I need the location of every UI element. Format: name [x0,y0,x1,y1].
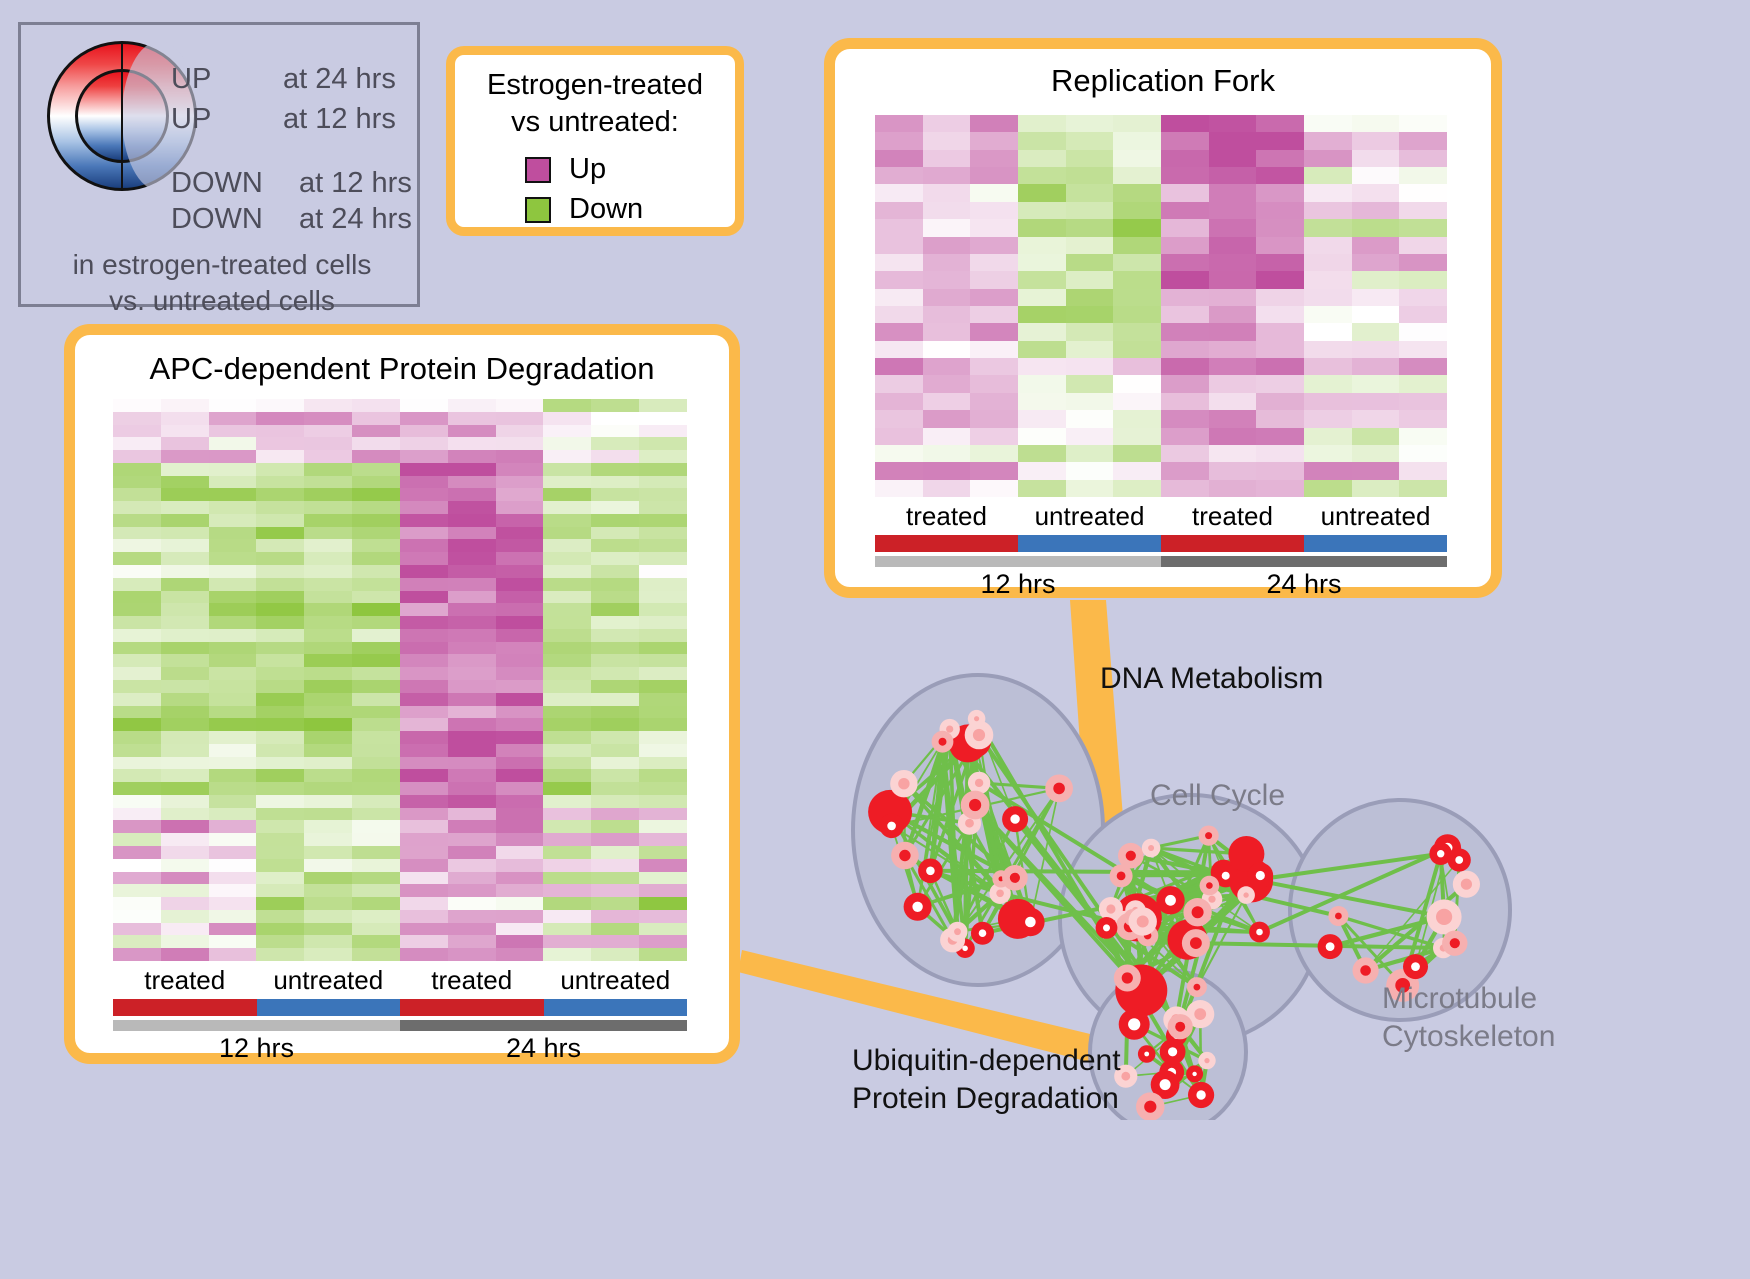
ring-midline [121,41,123,191]
axis-group-bar-3 [1304,535,1447,552]
network-node-core [979,929,987,937]
network-node-core [969,799,981,811]
network-node-core [1165,895,1176,906]
network-node-core [1121,1072,1130,1081]
network-node-core [912,902,922,912]
axis-group-bar-1 [1018,535,1161,552]
network-node-core [1144,1052,1149,1057]
network-node-core [887,822,896,831]
legend-title-line-1: Estrogen-treated [455,67,735,104]
axis-group-labels: treateduntreatedtreateduntreated [875,501,1447,532]
network-node-core [1411,962,1420,971]
network-node-core [965,819,974,828]
legend-title-line-2: vs untreated: [455,104,735,141]
network-node-core [1126,851,1136,861]
network-node-core [1122,972,1133,983]
colour-wheel-legend: UP at 24 hrs UP at 12 hrs DOWN at 12 hrs… [18,22,420,307]
ubiquitin-line-1: Ubiquitin-dependent [852,1042,1121,1080]
axis-apc: treateduntreatedtreateduntreated 12 hrs2… [113,965,687,1055]
network-node-core [1137,916,1149,928]
network-node-core [1010,873,1020,883]
cluster-label-ubiquitin: Ubiquitin-dependent Protein Degradation [852,1042,1121,1118]
network-node-core [1437,850,1444,857]
axis-group-label-2: treated [400,965,544,996]
network-node-core [1168,1047,1177,1056]
network-node-core [975,779,983,787]
axis-group-label-0: treated [113,965,257,996]
network-node-core [1103,924,1110,931]
network-node-core [1335,913,1342,920]
axis-group-label-1: untreated [1018,501,1161,532]
axis-group-label-3: untreated [1304,501,1447,532]
wheel-up-24-label: UP [171,63,211,96]
network-node-core [1222,872,1230,880]
network-node-core [1243,892,1248,897]
wheel-down-24-time: at 24 hrs [299,203,412,236]
panel-title-apc: APC-dependent Protein Degradation [75,351,729,387]
network-node-core [1128,1018,1140,1030]
network-node-core [954,928,961,935]
axis-group-bar-3 [544,999,688,1016]
network-node-core [1117,872,1126,881]
axis-time-bar-0 [875,556,1161,567]
panel-replication-fork: Replication Fork treateduntreatedtreated… [824,38,1502,598]
panel-title-replication-fork: Replication Fork [835,63,1491,99]
cluster-label-dna-metabolism: DNA Metabolism [1100,662,1323,696]
down-swatch-icon [525,197,551,223]
network-node-core [1208,896,1215,903]
network-node-core [1360,965,1371,976]
axis-time-bars [875,556,1447,567]
axis-time-labels: 12 hrs24 hrs [875,569,1447,600]
ubiquitin-line-2: Protein Degradation [852,1080,1121,1118]
network-node-core [1148,845,1154,851]
network-node-core [946,726,953,733]
axis-time-bar-0 [113,1020,400,1031]
network-node-core [899,850,910,861]
wheel-down-12-label: DOWN [171,167,263,200]
microtubule-line-1: Microtubule [1382,980,1555,1018]
network-node-core [939,738,947,746]
wheel-down-12-time: at 12 hrs [299,167,412,200]
legend-down-label: Down [569,193,643,226]
network-node-core [1175,1022,1185,1032]
heatmap-apc [113,399,687,961]
network-node-core [974,716,979,721]
panel-apc-degradation: APC-dependent Protein Degradation treate… [64,324,740,1064]
axis-group-labels: treateduntreatedtreateduntreated [113,965,687,996]
colour-wheel-caption: in estrogen-treated cells vs. untreated … [21,247,423,319]
cluster-label-cell-cycle: Cell Cycle [1150,779,1285,813]
axis-replication-fork: treateduntreatedtreateduntreated 12 hrs2… [875,501,1447,591]
network-node-core [1461,879,1472,890]
axis-group-bar-2 [400,999,544,1016]
legend-up-label: Up [569,153,606,186]
network-node-core [1053,783,1065,795]
axis-time-label-0: 12 hrs [875,569,1161,600]
network-node-core [1205,832,1212,839]
network-node-core [1192,1072,1196,1076]
network-node-core [1256,871,1265,880]
axis-group-bar-0 [113,999,257,1016]
microtubule-line-2: Cytoskeleton [1382,1018,1555,1056]
network-node-core [898,778,909,789]
wheel-up-12-label: UP [171,103,211,136]
axis-time-label-1: 24 hrs [400,1033,687,1064]
network-node-core [973,729,985,741]
axis-group-label-0: treated [875,501,1018,532]
network-edge-bridge [930,871,1223,873]
network-node-core [1194,1008,1206,1020]
legend-row-down: Down [525,193,643,226]
cluster-label-microtubule: Microtubule Cytoskeleton [1382,980,1555,1056]
network-node-core [1025,917,1036,928]
network-node-core [1010,814,1019,823]
axis-time-bar-1 [1161,556,1447,567]
network-node-core [996,890,1004,898]
network-node-core [926,867,935,876]
network-node-core [1190,937,1202,949]
axis-time-label-1: 24 hrs [1161,569,1447,600]
network-node-core [1160,1079,1171,1090]
axis-group-label-2: treated [1161,501,1304,532]
network-node-core [1326,942,1335,951]
up-swatch-icon [525,157,551,183]
axis-group-label-1: untreated [257,965,401,996]
caption-line-2: vs. untreated cells [21,283,423,319]
axis-time-label-0: 12 hrs [113,1033,400,1064]
network-node-core [1206,882,1213,889]
axis-time-labels: 12 hrs24 hrs [113,1033,687,1064]
network-node-core [1192,906,1204,918]
figure-canvas: UP at 24 hrs UP at 12 hrs DOWN at 12 hrs… [0,0,1750,1279]
legend-row-up: Up [525,153,606,186]
network-node-core [1204,1058,1209,1063]
heatmap-replication-fork [875,115,1447,497]
wheel-up-24-time: at 24 hrs [283,63,396,96]
axis-group-label-3: untreated [544,965,688,996]
axis-group-bars [875,535,1447,552]
network-node-core [1196,1090,1205,1099]
axis-group-bar-1 [257,999,401,1016]
axis-group-bar-0 [875,535,1018,552]
network-node-core [1455,856,1463,864]
wheel-down-24-label: DOWN [171,203,263,236]
axis-time-bars [113,1020,687,1031]
network-node-core [1436,909,1452,925]
axis-group-bars [113,999,687,1016]
axis-time-bar-1 [400,1020,687,1031]
wheel-up-12-time: at 12 hrs [283,103,396,136]
network-node-core [1106,904,1115,913]
network-node-core [1450,938,1460,948]
network-node-core [1194,984,1201,991]
estrogen-legend-title: Estrogen-treated vs untreated: [455,67,735,141]
caption-line-1: in estrogen-treated cells [21,247,423,283]
estrogen-legend-card: Estrogen-treated vs untreated: Up Down [446,46,744,236]
network-node-core [1256,929,1263,936]
axis-group-bar-2 [1161,535,1304,552]
network-node-core [1144,1101,1156,1113]
